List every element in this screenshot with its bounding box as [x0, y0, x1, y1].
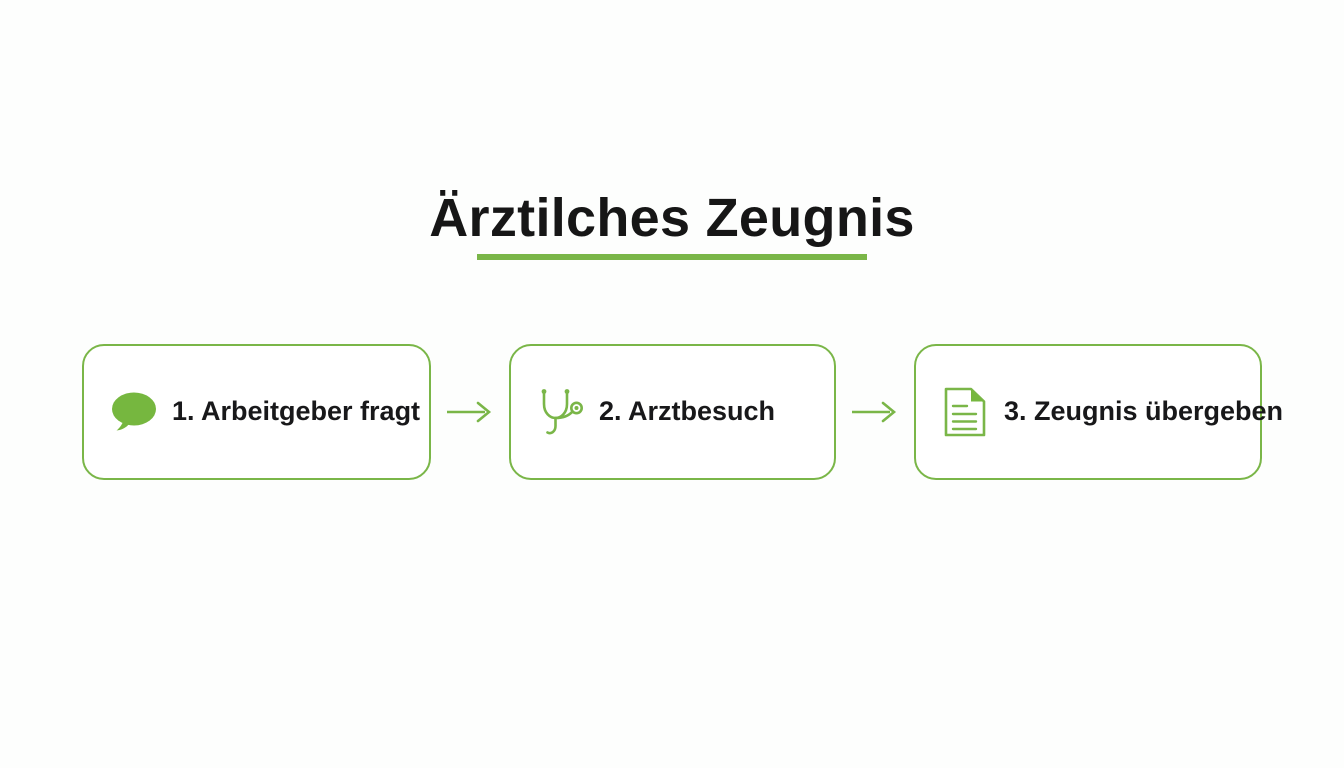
slide-canvas: Ärztilches Zeugnis 1. Arbeitgeber fragt — [0, 0, 1344, 768]
speech-bubble-icon — [106, 385, 160, 439]
step-label-2: 2. Arztbesuch — [599, 397, 775, 427]
arrow-right-icon — [441, 397, 499, 427]
document-icon — [938, 385, 992, 439]
step-label-1: 1. Arbeitgeber fragt — [172, 397, 420, 427]
step-label-3: 3. Zeugnis übergeben — [1004, 397, 1283, 427]
process-flow: 1. Arbeitgeber fragt — [82, 344, 1262, 480]
step-card-2[interactable]: 2. Arztbesuch — [509, 344, 836, 480]
stethoscope-icon — [533, 385, 587, 439]
step-card-1[interactable]: 1. Arbeitgeber fragt — [82, 344, 431, 480]
title-block: Ärztilches Zeugnis — [0, 190, 1344, 260]
step-card-3[interactable]: 3. Zeugnis übergeben — [914, 344, 1262, 480]
page-title: Ärztilches Zeugnis — [0, 190, 1344, 247]
title-underline — [477, 254, 867, 260]
arrow-right-icon — [846, 397, 904, 427]
